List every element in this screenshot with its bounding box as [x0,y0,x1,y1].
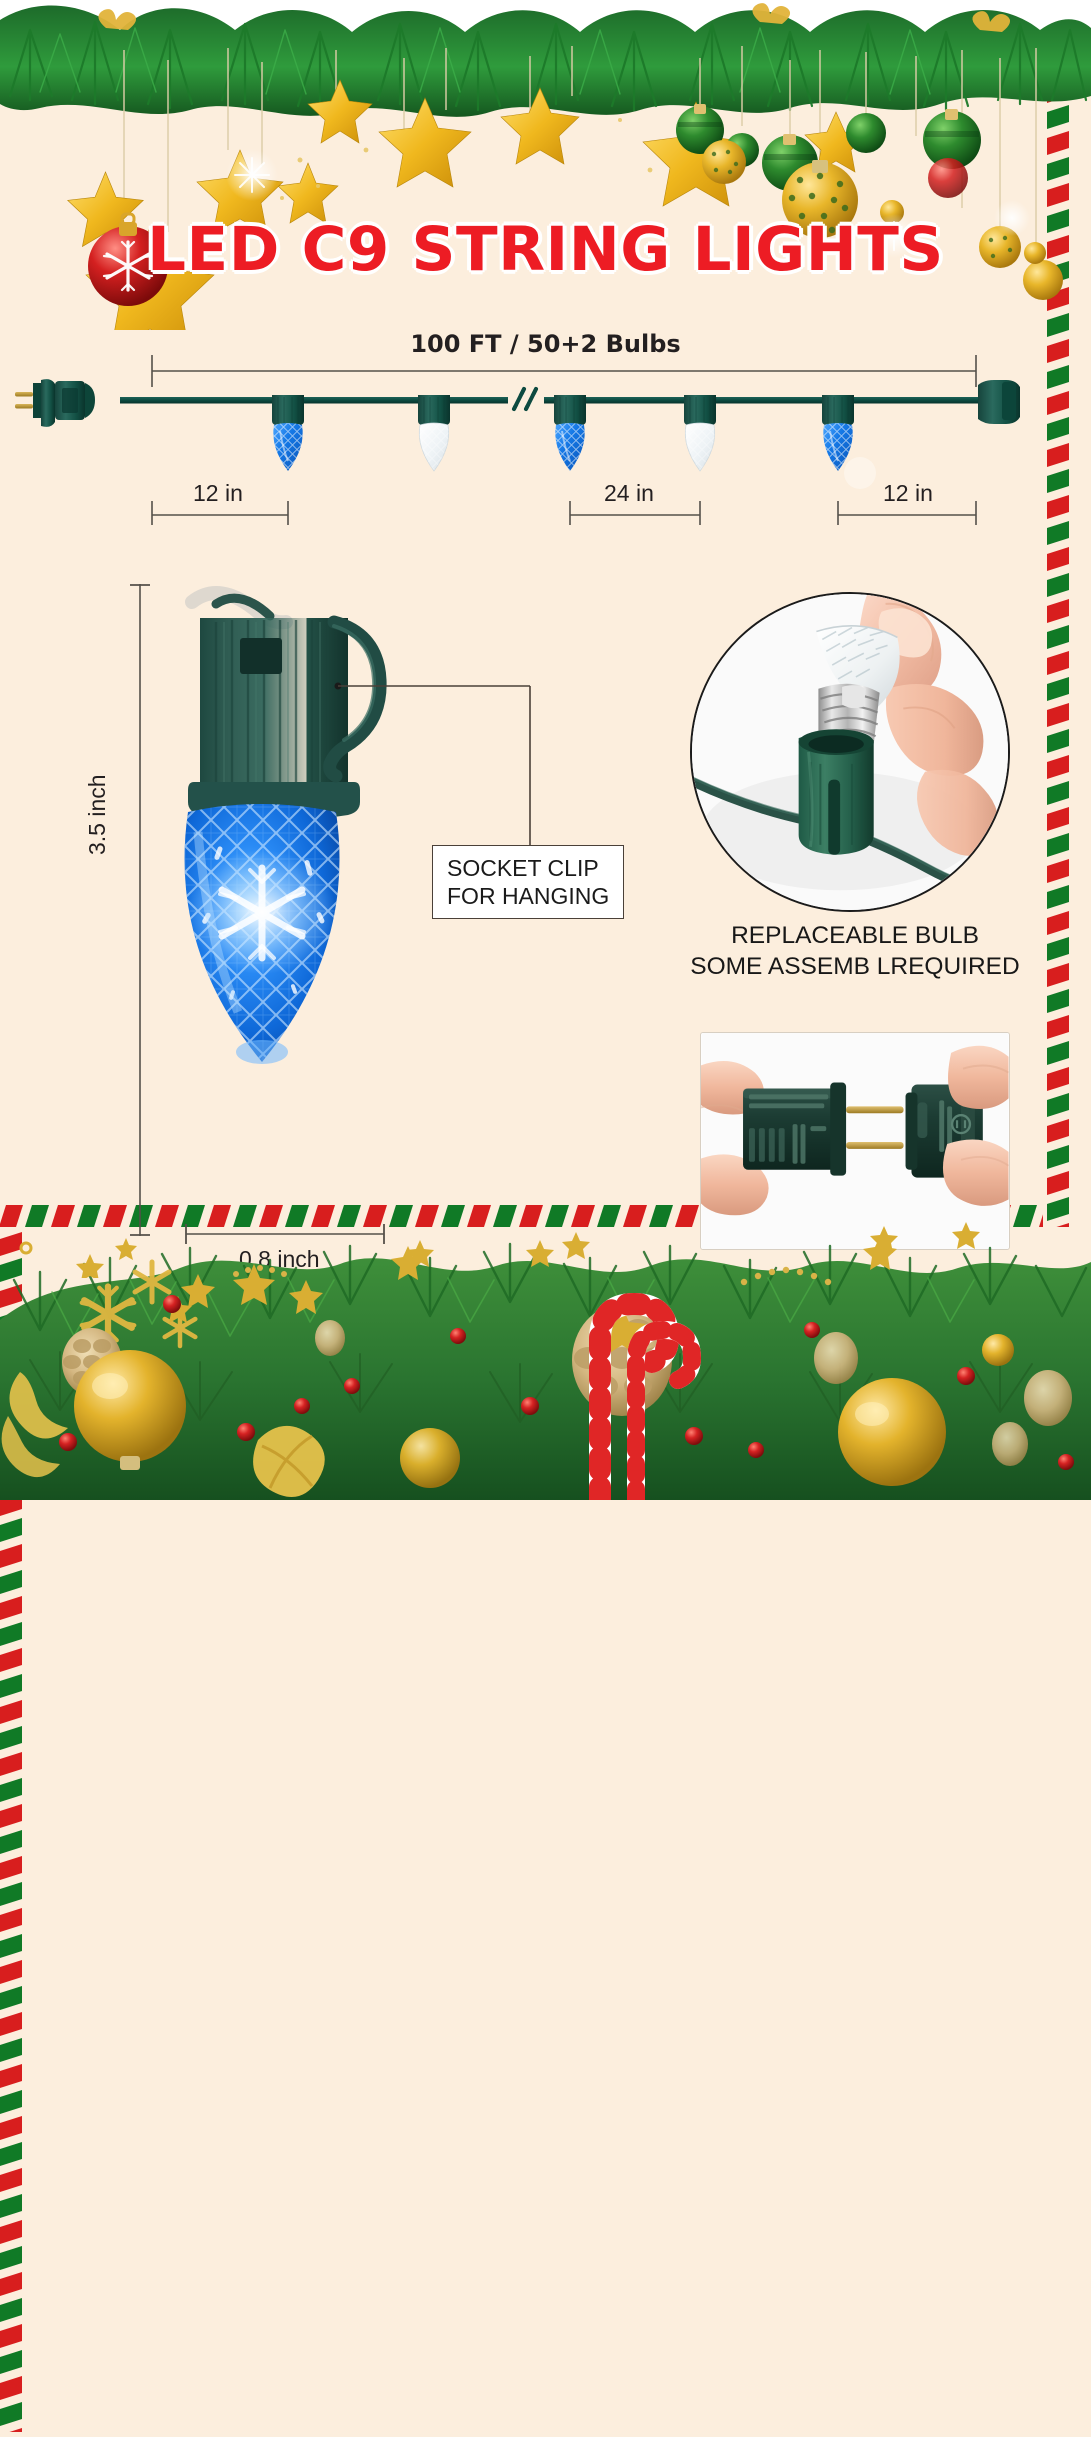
string-bulb-3 [554,395,586,471]
replaceable-bulb-photo [690,592,1010,912]
lead-out-dimension-label: 12 in [883,480,933,507]
callout-line-1: SOCKET CLIP [433,854,623,882]
bulb-spacing-dimension-label: 24 in [604,480,654,507]
replaceable-bulb-caption-line-2: SOME ASSEMB LREQUIRED [660,951,1050,982]
page-title: LED C9 STRING LIGHTS [0,214,1091,285]
total-length-dimension [152,355,976,387]
bulb-height-label: 3.5 inch [84,774,111,855]
replaceable-bulb-caption: REPLACEABLE BULB SOME ASSEMB LREQUIRED [660,920,1050,983]
segment-dimensions [152,501,976,525]
socket-clip-callout: SOCKET CLIP FOR HANGING [432,845,624,919]
female-connector [978,380,1020,424]
spec-label: 100 FT / 50+2 Bulbs [0,330,1091,358]
callout-leader-line [330,680,650,860]
string-bulb-4 [684,395,716,471]
infographic-page: LED C9 STRING LIGHTS 100 FT / 50+2 Bulbs [0,0,1091,1500]
lead-in-dimension-label: 12 in [193,480,243,507]
gold-specks-decoration [0,1208,1091,1278]
bulb-height-dimension [128,580,152,1240]
string-bulb-1 [272,395,304,471]
callout-line-2: FOR HANGING [433,882,623,910]
male-plug [15,379,95,427]
string-bulb-2 [418,395,450,471]
string-bulb-5 [822,395,876,489]
replaceable-bulb-caption-line-1: REPLACEABLE BULB [660,920,1050,951]
